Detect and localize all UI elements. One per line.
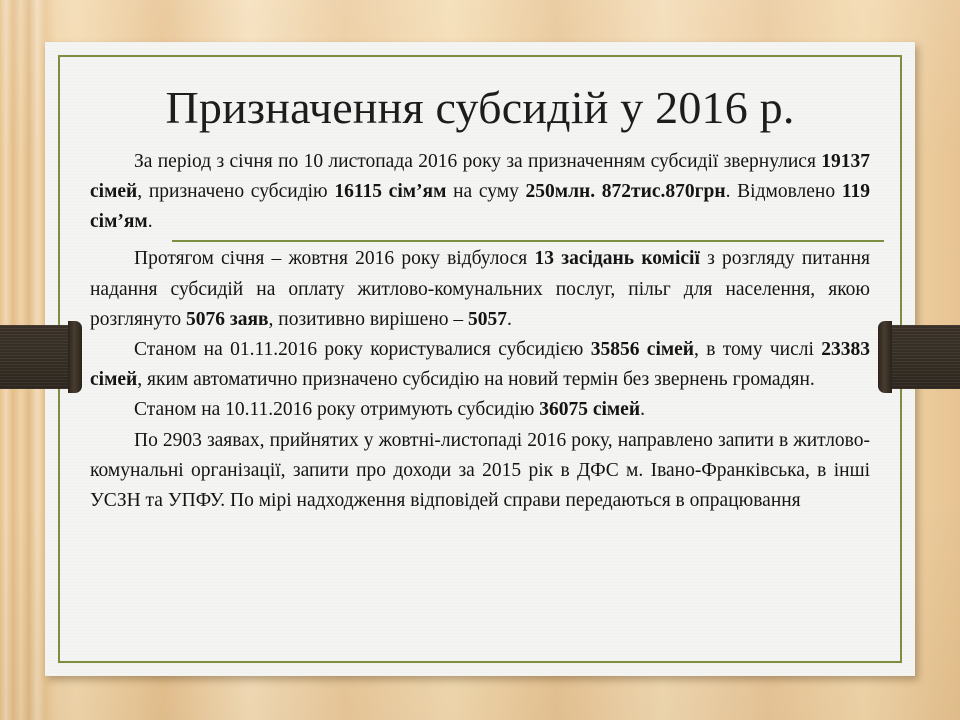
body-text: , призначено субсидію (137, 181, 334, 202)
slide-body: За період з січня по 10 листопада 2016 р… (90, 147, 870, 517)
paragraph-p4: Станом на 10.11.2016 року отримують субс… (90, 395, 870, 425)
paragraph-p5: По 2903 заявах, прийнятих у жовтні-листо… (90, 426, 870, 517)
emphasis-text: 250млн. 872тис.870грн (526, 181, 726, 202)
emphasis-text: 13 засідань комісії (535, 248, 700, 269)
decorative-ribbon-right (884, 325, 960, 389)
emphasis-text: 16115 сім’ям (334, 181, 446, 202)
body-text: . (640, 399, 645, 420)
paragraph-p1: За період з січня по 10 листопада 2016 р… (90, 147, 870, 238)
decorative-ribbon-right-cap (878, 321, 892, 393)
section-divider (172, 240, 884, 242)
page-title: Призначення субсидій у 2016 р. (86, 83, 874, 133)
body-text: . Відмовлено (726, 181, 842, 202)
body-text: . (507, 309, 512, 330)
body-text: , позитивно вирішено – (269, 309, 468, 330)
body-text: . (148, 211, 153, 232)
emphasis-text: 35856 сімей (591, 339, 694, 360)
emphasis-text: 5057 (468, 309, 507, 330)
slide-content: Призначення субсидій у 2016 р. За період… (58, 55, 902, 663)
body-text: , яким автоматично призначено субсидію н… (137, 369, 815, 390)
emphasis-text: 36075 сімей (539, 399, 640, 420)
body-text: на суму (446, 181, 525, 202)
body-text: За період з січня по 10 листопада 2016 р… (134, 151, 821, 172)
body-text: Станом на 01.11.2016 року користувалися … (134, 339, 591, 360)
body-text: По 2903 заявах, прийнятих у жовтні-листо… (90, 430, 870, 511)
decorative-ribbon-left (0, 325, 76, 389)
body-text: Станом на 10.11.2016 року отримують субс… (134, 399, 539, 420)
slide-root: Призначення субсидій у 2016 р. За період… (0, 0, 960, 720)
paragraph-p2: Протягом січня – жовтня 2016 року відбул… (90, 244, 870, 335)
body-text: Протягом січня – жовтня 2016 року відбул… (134, 248, 535, 269)
emphasis-text: 5076 заяв (186, 309, 269, 330)
decorative-ribbon-left-cap (68, 321, 82, 393)
body-text: , в тому числі (694, 339, 821, 360)
paragraph-p3: Станом на 01.11.2016 року користувалися … (90, 335, 870, 395)
slide-card: Призначення субсидій у 2016 р. За період… (45, 42, 915, 676)
